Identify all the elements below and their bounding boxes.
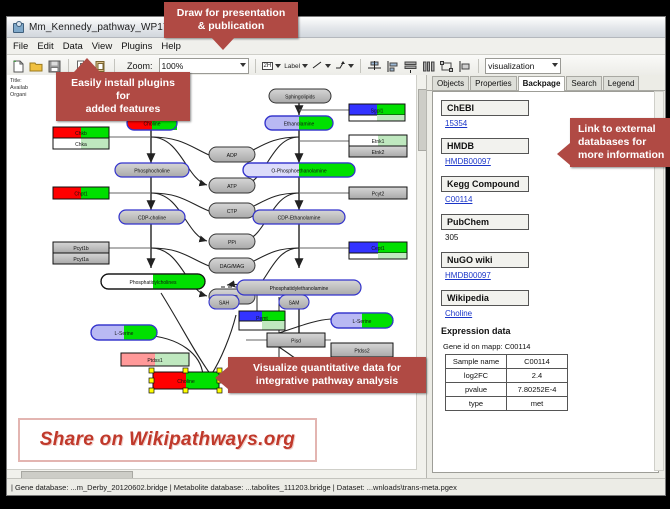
share-banner-text: Share on Wikipathways.org xyxy=(40,429,295,451)
cofactor-dagmag[interactable]: DAG/MAG xyxy=(209,258,255,273)
callout-visualize-arrow-left xyxy=(215,367,228,389)
gene-ptdss1-label: Ptdss1 xyxy=(147,358,163,364)
gene-ptdss2-label: Ptdss2 xyxy=(354,349,370,355)
gene-chkb[interactable]: Chkb xyxy=(53,127,109,138)
table-row: pvalue 7.80252E-4 xyxy=(446,383,568,397)
metabolite-phosphocholine-label: Phosphocholine xyxy=(134,169,170,175)
gene-pcyt1a-label: Pcyt1a xyxy=(73,257,89,263)
metabolite-sah[interactable]: SAH xyxy=(209,295,239,309)
datanode-dropdown[interactable]: 2H xyxy=(262,62,282,70)
gene-sgpl1-label: Sgpl1 xyxy=(371,109,384,115)
align-center-icon[interactable] xyxy=(367,59,382,74)
cofactor-adp[interactable]: ADP xyxy=(209,147,255,162)
callout-plugins-line1: Easily install plugins for xyxy=(64,77,182,103)
expr-val-log2fc: 2.4 xyxy=(507,369,568,383)
pathway-meta-availability: Availab xyxy=(10,85,28,92)
ungroup-icon[interactable] xyxy=(457,59,472,74)
cofactor-ctp-label: CTP xyxy=(227,209,238,215)
metabolite-phosphocholine[interactable]: Phosphocholine xyxy=(115,163,189,177)
line-dropdown[interactable] xyxy=(311,59,331,73)
status-bar-text: | Gene database: ...m_Derby_20120602.bri… xyxy=(11,483,457,492)
side-panel-tabs: Objects Properties Backpage Search Legen… xyxy=(427,75,665,91)
gene-ptdss2[interactable]: Ptdss2 xyxy=(331,343,393,357)
expr-val-pvalue: 7.80252E-4 xyxy=(507,383,568,397)
canvas-vertical-scrollbar[interactable] xyxy=(416,75,426,479)
gene-chpt1-label: Chpt1 xyxy=(74,192,88,198)
new-file-icon[interactable] xyxy=(11,59,26,74)
expr-key-pvalue: pvalue xyxy=(446,383,507,397)
metabolite-sphingolipids[interactable]: Sphingolipids xyxy=(269,89,331,103)
expr-key-log2fc: log2FC xyxy=(446,369,507,383)
metabolite-sphingolipids-label: Sphingolipids xyxy=(285,95,315,101)
menu-item-edit[interactable]: Edit xyxy=(37,41,53,52)
metabolite-l-serine-right[interactable]: L-Serine xyxy=(331,313,393,328)
callout-visualize-line1: Visualize quantitative data for xyxy=(236,362,418,375)
cofactor-ppi[interactable]: PPi xyxy=(209,234,255,249)
gene-pisd[interactable]: Pisd xyxy=(267,333,325,347)
group-icon[interactable] xyxy=(439,59,454,74)
expr-key-sample-name: Sample name xyxy=(446,355,507,369)
callout-draw-arrow xyxy=(210,36,236,50)
tab-objects[interactable]: Objects xyxy=(432,76,469,90)
metabolite-choline-bottom-label: Choline xyxy=(177,379,195,385)
backpage-link-nugo[interactable]: HMDB00097 xyxy=(445,271,658,280)
backpage-heading-chebi: ChEBI xyxy=(441,100,529,116)
line-icon xyxy=(311,59,323,73)
gene-etnk2-label: Etnk2 xyxy=(372,150,385,156)
chevron-down-icon xyxy=(325,64,331,68)
metabolite-phosphatidylethanolamine[interactable]: Phosphatidylethanolamine xyxy=(237,280,361,295)
metabolite-choline-bottom[interactable]: Choline xyxy=(149,368,222,393)
gene-cept1[interactable]: Cept1 xyxy=(349,242,407,259)
pathway-meta-title: Title: xyxy=(10,78,28,85)
gene-pisd-label: Pisd xyxy=(291,339,301,345)
interaction-dropdown[interactable] xyxy=(334,59,354,73)
screenshot-root: Mm_Kennedy_pathway_WP1771_45176.gpml Fil… xyxy=(0,0,670,509)
chevron-down-icon xyxy=(240,63,246,67)
table-row: log2FC 2.4 xyxy=(446,369,568,383)
metabolite-l-serine-left-label: L-Serine xyxy=(115,331,134,337)
gene-ptdss1[interactable]: Ptdss1 xyxy=(121,353,189,366)
toolbar-separator-3 xyxy=(255,59,256,73)
callout-link-line3: more information xyxy=(578,149,670,162)
menu-item-data[interactable]: Data xyxy=(63,41,83,52)
metabolite-ethanolamine-top[interactable]: Ethanolamine xyxy=(265,116,333,130)
menu-bar: File Edit Data View Plugins Help xyxy=(7,38,665,55)
distribute-icon[interactable] xyxy=(421,59,436,74)
tab-backpage[interactable]: Backpage xyxy=(518,76,566,91)
metabolite-cdp-ethanolamine-label: CDP-Ethanolamine xyxy=(278,216,321,222)
callout-plugins-line2: added features xyxy=(64,103,182,116)
metabolite-sah-label: SAH xyxy=(219,301,230,307)
pathway-meta-organism: Organi xyxy=(10,92,28,99)
callout-plugins-arrow xyxy=(74,58,100,72)
toolbar-separator-4 xyxy=(360,59,361,73)
gene-etnk2[interactable]: Etnk2 xyxy=(349,146,407,157)
label-dropdown[interactable]: Label xyxy=(284,63,308,70)
metabolite-l-serine-right-label: L-Serine xyxy=(353,319,372,325)
visualization-value: visualization xyxy=(488,61,534,71)
cofactor-dagmag-label: DAG/MAG xyxy=(220,264,245,270)
tab-properties[interactable]: Properties xyxy=(470,76,516,90)
datanode-icon: 2H xyxy=(262,62,274,70)
menu-item-plugins[interactable]: Plugins xyxy=(121,41,152,52)
expression-data-table: Sample name C00114 log2FC 2.4 pvalue 7.8… xyxy=(445,354,568,411)
metabolite-sam-label: SAM xyxy=(289,301,300,307)
open-folder-icon[interactable] xyxy=(29,59,44,74)
gene-chka[interactable]: Chka xyxy=(53,138,109,149)
expr-val-type: met xyxy=(507,397,568,411)
share-banner: Share on Wikipathways.org xyxy=(18,418,317,462)
metabolite-ethanolamine-top-label: Ethanolamine xyxy=(284,122,315,128)
backpage-link-wikipedia[interactable]: Choline xyxy=(445,309,658,318)
expression-data-title: Expression data xyxy=(441,326,658,336)
chevron-down-icon xyxy=(348,64,354,68)
callout-draw-line1: Draw for presentation xyxy=(172,7,290,20)
gene-pcyt1b-label: Pcyt1b xyxy=(73,246,89,252)
metabolite-phosphatidylcholines[interactable]: Phosphatidylcholines xyxy=(101,274,206,289)
callout-link-line1: Link to external xyxy=(578,123,670,136)
gene-sgpl1[interactable]: Sgpl1 xyxy=(349,104,405,121)
callout-visualize-arrow-right xyxy=(410,365,424,391)
gene-etnk1[interactable]: Etnk1 xyxy=(349,135,407,146)
backpage-heading-wikipedia: Wikipedia xyxy=(441,290,529,306)
callout-link: Link to external databases for more info… xyxy=(570,118,670,167)
table-row: type met xyxy=(446,397,568,411)
metabolite-o-phosphoethanolamine-label: O-Phosphoethanolamine xyxy=(271,169,327,175)
gene-pcyt2[interactable]: Pcyt2 xyxy=(349,187,407,199)
gene-pcyt1a[interactable]: Pcyt1a xyxy=(53,253,109,264)
gene-chpt1[interactable]: Chpt1 xyxy=(53,187,109,199)
callout-draw-line2: & publication xyxy=(172,20,290,33)
status-bar: | Gene database: ...m_Derby_20120602.bri… xyxy=(7,478,665,495)
pathway-meta: Title: Availab Organi xyxy=(10,78,28,99)
gene-chka-label: Chka xyxy=(75,142,87,148)
gene-cept1-label: Cept1 xyxy=(371,246,385,252)
callout-plugins: Easily install plugins for added feature… xyxy=(56,72,190,121)
zoom-value: 100% xyxy=(162,61,184,71)
expr-val-sample-name: C00114 xyxy=(507,355,568,369)
callout-draw: Draw for presentation & publication xyxy=(164,2,298,38)
toolbar-separator-1 xyxy=(68,59,69,73)
gene-pemt[interactable]: Pemt xyxy=(239,311,285,330)
callout-link-line2: databases for xyxy=(578,136,670,149)
metabolite-sam[interactable]: SAM xyxy=(279,295,309,309)
chevron-down-icon xyxy=(552,63,558,67)
backpage-heading-kegg: Kegg Compound xyxy=(441,176,529,192)
metabolite-l-serine-left[interactable]: L-Serine xyxy=(91,325,158,340)
gene-pemt-label: Pemt xyxy=(256,316,268,322)
align-left-icon[interactable] xyxy=(385,59,400,74)
interaction-icon xyxy=(334,59,346,73)
backpage-value-pubchem: 305 xyxy=(445,233,658,242)
canvas-vscroll-thumb[interactable] xyxy=(418,89,427,151)
gene-id-line: Gene id on mapp: C00114 xyxy=(443,342,658,351)
metabolite-cdp-choline[interactable]: CDP-choline xyxy=(119,210,185,224)
cofactor-atp-label: ATP xyxy=(227,184,237,190)
menu-item-file[interactable]: File xyxy=(13,41,28,52)
gene-pcyt1b[interactable]: Pcyt1b xyxy=(53,242,109,253)
gene-etnk1-label: Etnk1 xyxy=(372,139,385,145)
tab-search[interactable]: Search xyxy=(566,76,601,90)
metabolite-cdp-choline-label: CDP-choline xyxy=(138,216,166,222)
callout-link-arrow xyxy=(557,143,570,165)
gene-chkb-label: Chkb xyxy=(75,131,87,137)
menu-item-help[interactable]: Help xyxy=(161,41,181,52)
cofactor-ppi-label: PPi xyxy=(228,240,236,246)
metabolite-phosphatidylethanolamine-label: Phosphatidylethanolamine xyxy=(270,286,329,292)
zoom-label: Zoom: xyxy=(127,61,153,71)
callout-visualize: Visualize quantitative data for integrat… xyxy=(228,357,426,393)
cofactor-ctp[interactable]: CTP xyxy=(209,203,255,218)
metabolite-cdp-ethanolamine[interactable]: CDP-Ethanolamine xyxy=(253,210,345,224)
backpage-heading-nugo: NuGO wiki xyxy=(441,252,529,268)
metabolite-phosphatidylcholines-label: Phosphatidylcholines xyxy=(130,280,177,286)
tab-legend[interactable]: Legend xyxy=(603,76,640,90)
backpage-heading-pubchem: PubChem xyxy=(441,214,529,230)
cofactor-adp-label: ADP xyxy=(227,153,238,159)
cofactor-atp[interactable]: ATP xyxy=(209,178,255,193)
expr-key-type: type xyxy=(446,397,507,411)
label-dropdown-text: Label xyxy=(284,63,300,70)
toolbar-separator-5 xyxy=(478,59,479,73)
toolbar-separator-2 xyxy=(114,59,115,73)
callout-visualize-line2: integrative pathway analysis xyxy=(236,375,418,388)
title-bar: Mm_Kennedy_pathway_WP1771_45176.gpml xyxy=(7,17,665,38)
metabolite-choline-top-label: Choline xyxy=(144,122,161,128)
backpage-link-kegg[interactable]: C00114 xyxy=(445,195,658,204)
metabolite-o-phosphoethanolamine[interactable]: O-Phosphoethanolamine xyxy=(243,163,355,177)
visualization-combobox[interactable]: visualization xyxy=(485,58,561,74)
backpage-heading-hmdb: HMDB xyxy=(441,138,529,154)
gene-pcyt2-label: Pcyt2 xyxy=(372,192,385,198)
chevron-down-icon xyxy=(302,64,308,68)
menu-item-view[interactable]: View xyxy=(92,41,112,52)
table-row: Sample name C00114 xyxy=(446,355,568,369)
stack-icon[interactable] xyxy=(403,59,418,74)
pathvisio-icon xyxy=(12,21,24,33)
chevron-down-icon xyxy=(275,64,281,68)
